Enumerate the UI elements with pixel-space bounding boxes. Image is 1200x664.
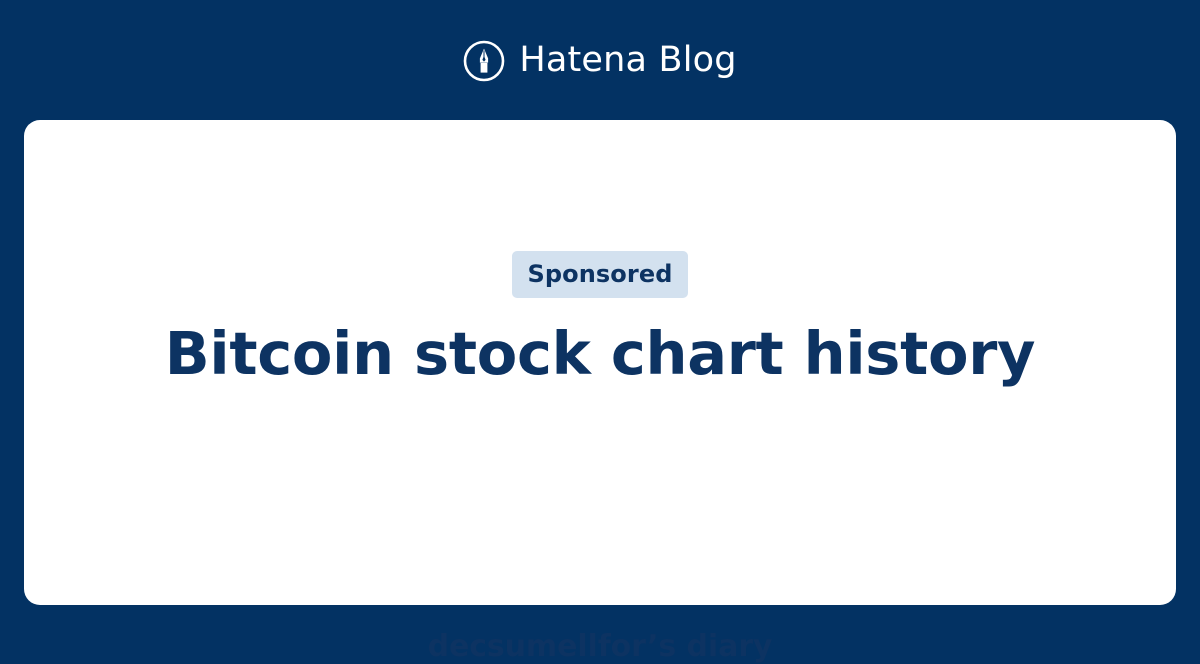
- hatena-blog-logo[interactable]: [463, 39, 505, 82]
- brand-wordmark: Hatena Blog: [519, 43, 736, 78]
- sponsored-badge: Sponsored: [512, 251, 687, 298]
- og-image-canvas: Hatena Blog Sponsored Bitcoin stock char…: [0, 0, 1200, 630]
- entry-card: Sponsored Bitcoin stock chart history de…: [24, 120, 1176, 605]
- entry-title: Bitcoin stock chart history: [105, 320, 1095, 388]
- blog-name[interactable]: decsumellfor’s diary: [24, 632, 1176, 662]
- brand-header: Hatena Blog: [0, 0, 1200, 120]
- fountain-pen-nib-in-circle-icon: [463, 40, 505, 82]
- entry-card-main: Sponsored Bitcoin stock chart history: [24, 120, 1176, 520]
